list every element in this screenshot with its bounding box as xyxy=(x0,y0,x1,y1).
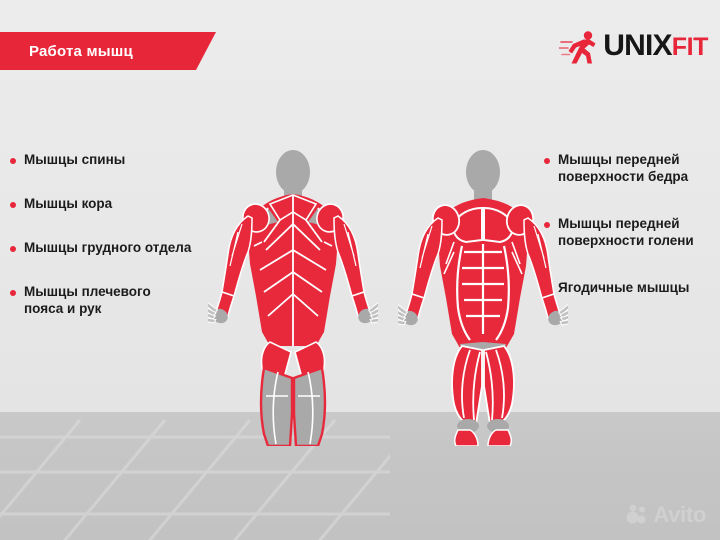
bullet-icon xyxy=(10,290,16,296)
avito-watermark: Avito xyxy=(626,504,706,526)
poster-canvas: Работа мышц UNIX FIT Мышцы спины Мышцы к… xyxy=(0,0,720,540)
left-arm-muscle xyxy=(222,216,252,296)
list-item-label: Мышцы спины xyxy=(24,152,125,169)
list-item: Ягодичные мышцы xyxy=(544,280,720,297)
head-shape xyxy=(466,150,500,194)
logo-text-fit: FIT xyxy=(672,35,708,60)
right-arm-muscle xyxy=(524,218,554,298)
right-shin xyxy=(488,430,511,446)
avito-dots-icon xyxy=(626,504,648,526)
list-item-label: Мышцы переднейповерхности бедра xyxy=(558,152,688,186)
running-man-icon xyxy=(559,27,599,65)
list-item: Мышцы переднейповерхности голени xyxy=(544,216,720,250)
list-item-label: Мышцы переднейповерхности голени xyxy=(558,216,694,250)
right-arm-muscle xyxy=(334,216,364,296)
head-shape xyxy=(276,150,310,194)
bullet-icon xyxy=(10,158,16,164)
left-arm-muscle xyxy=(412,218,442,298)
page-title: Работа мышц xyxy=(0,43,133,60)
logo-wordmark: UNIX FIT xyxy=(603,31,708,61)
avito-watermark-text: Avito xyxy=(653,504,706,526)
front-view-anatomy-illustration xyxy=(398,146,568,446)
bullet-icon xyxy=(10,246,16,252)
list-item: Мышцы спины xyxy=(10,152,225,169)
back-view-body xyxy=(208,146,378,446)
list-item-label: Мышцы кора xyxy=(24,196,112,213)
list-item: Мышцы кора xyxy=(10,196,225,213)
list-item: Мышцы грудного отдела xyxy=(10,240,225,257)
header-banner: Работа мышц xyxy=(0,32,216,70)
brand-logo[interactable]: UNIX FIT xyxy=(559,26,708,66)
logo-text-unix: UNIX xyxy=(603,31,671,61)
list-item: Мышцы плечевогопояса и рук xyxy=(10,284,225,318)
list-item-label: Ягодичные мышцы xyxy=(558,280,689,297)
left-shin xyxy=(455,430,478,446)
back-view-anatomy-illustration xyxy=(208,146,378,446)
bullet-icon xyxy=(10,202,16,208)
list-item-label: Мышцы плечевогопояса и рук xyxy=(24,284,151,318)
left-muscle-list: Мышцы спины Мышцы кора Мышцы грудного от… xyxy=(10,152,225,344)
list-item-label: Мышцы грудного отдела xyxy=(24,240,191,257)
right-muscle-list: Мышцы переднейповерхности бедра Мышцы пе… xyxy=(544,152,720,326)
front-view-body xyxy=(398,146,568,446)
list-item: Мышцы переднейповерхности бедра xyxy=(544,152,720,186)
